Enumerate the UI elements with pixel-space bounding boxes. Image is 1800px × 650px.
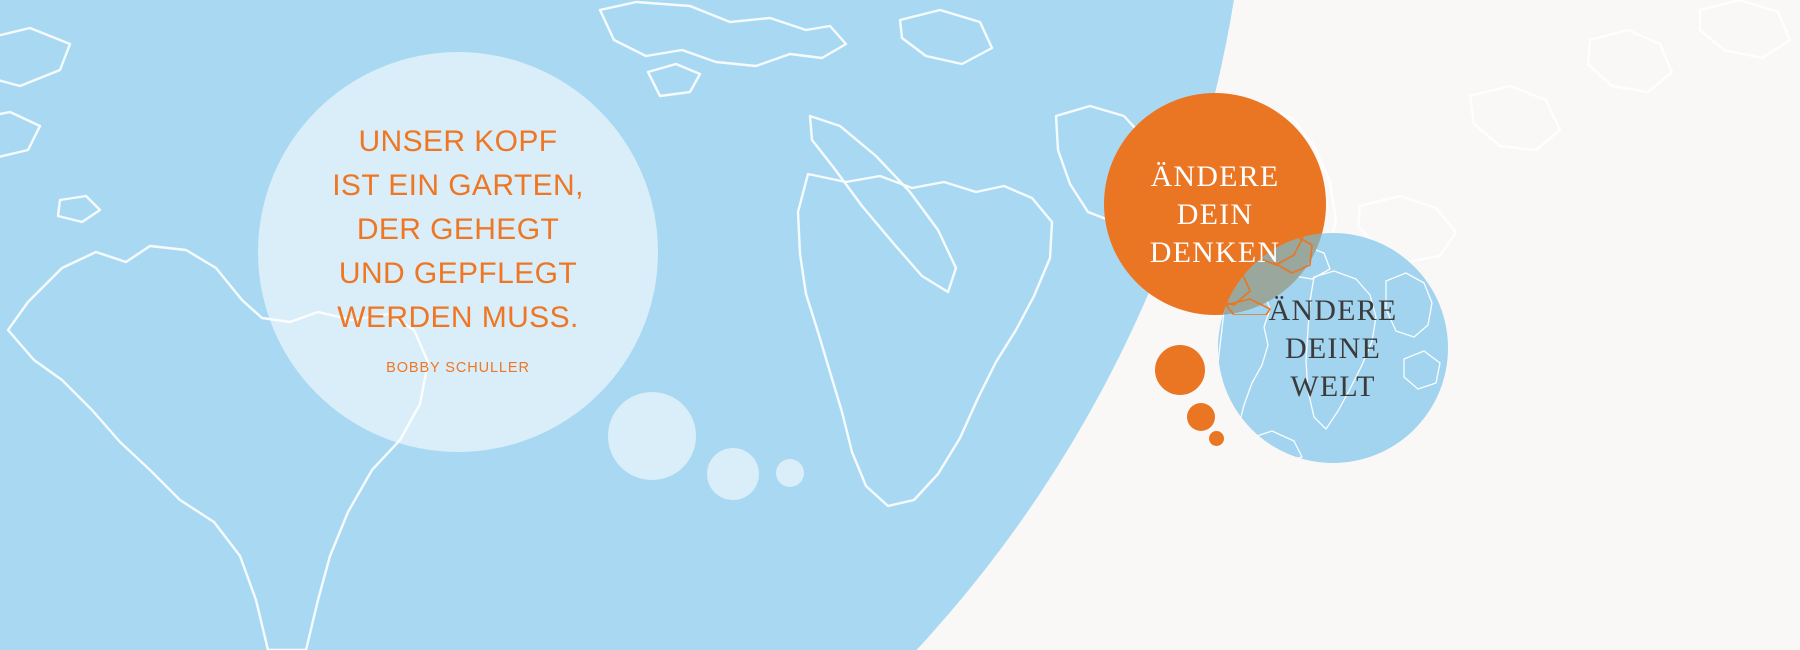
thought-bubble-medium [608, 392, 696, 480]
quote-line-3: DER GEHEGT [258, 208, 658, 252]
thought-bubble-small [707, 448, 759, 500]
orange-globe-text: ÄNDERE DEIN DENKEN [1104, 158, 1326, 272]
blue-globe-text: ÄNDERE DEINE WELT [1218, 292, 1448, 406]
thought-bubble-tiny [776, 459, 804, 487]
blue-globe-line-2: DEINE [1218, 330, 1448, 368]
orange-bubble-large [1155, 345, 1205, 395]
orange-globe-line-1: ÄNDERE [1104, 158, 1326, 196]
quote-line-2: IST EIN GARTEN, [258, 164, 658, 208]
blue-globe-line-1: ÄNDERE [1218, 292, 1448, 330]
quote-block: UNSER KOPF IST EIN GARTEN, DER GEHEGT UN… [258, 120, 658, 376]
slide-canvas: UNSER KOPF IST EIN GARTEN, DER GEHEGT UN… [0, 0, 1800, 650]
orange-globe-line-2: DEIN [1104, 196, 1326, 234]
quote-line-4: UND GEPFLEGT [258, 252, 658, 296]
quote-line-1: UNSER KOPF [258, 120, 658, 164]
blue-globe-line-3: WELT [1218, 368, 1448, 406]
orange-globe-line-3: DENKEN [1104, 234, 1326, 272]
quote-line-5: WERDEN MUSS. [258, 296, 658, 340]
quote-author: BOBBY SCHULLER [258, 360, 658, 376]
orange-bubble-medium [1187, 403, 1215, 431]
